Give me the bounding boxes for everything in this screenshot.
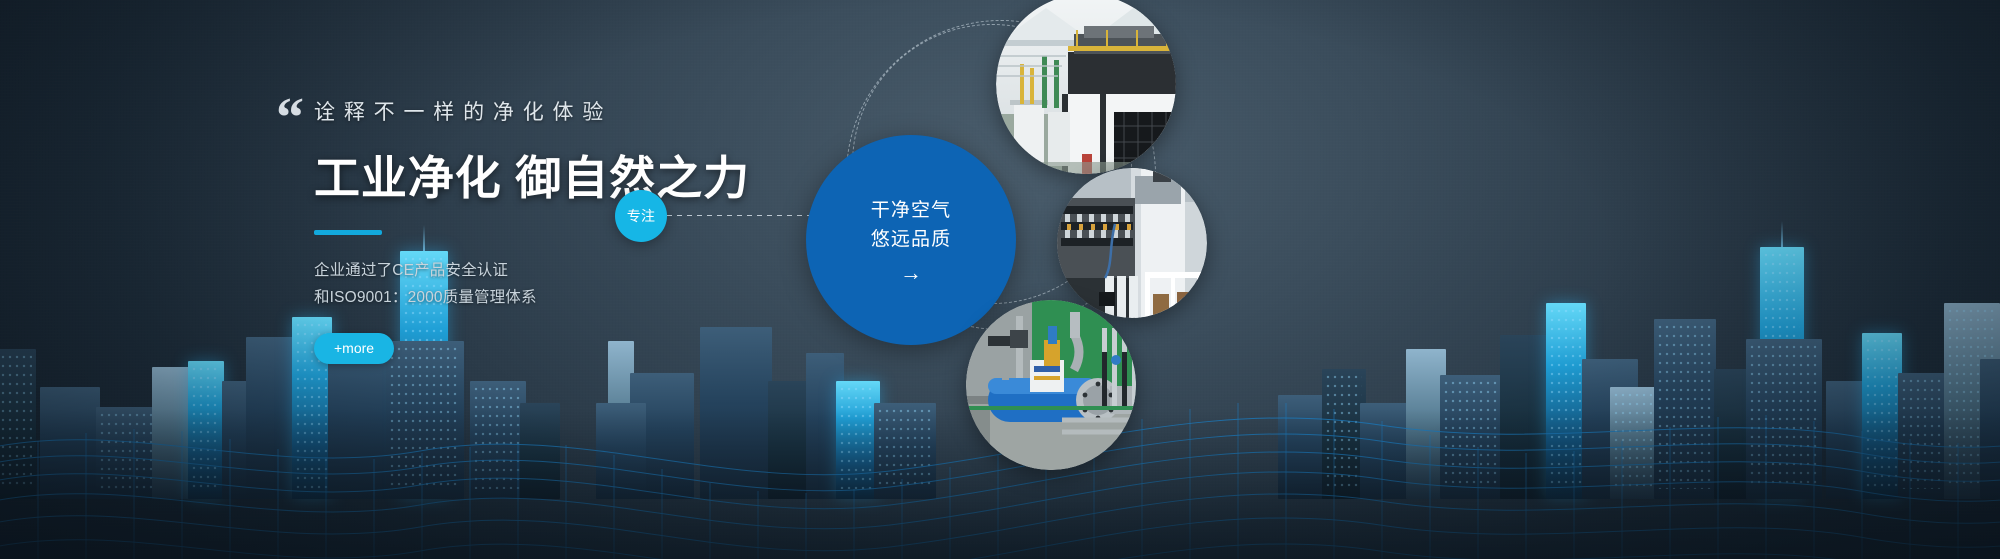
focus-badge-label: 专注 [627, 206, 656, 226]
accent-rule-divider [314, 230, 382, 235]
hero-graphic-cluster: 专注 干净空气 悠远品质 → [780, 0, 2000, 559]
quote-mark-icon: “ [276, 90, 304, 146]
more-button[interactable]: +more [314, 333, 394, 364]
circle-line-2: 悠远品质 [871, 225, 952, 254]
hero-banner: “ 诠释不一样的净化体验 工业净化 御自然之力 企业通过了CE产品安全认证 和I… [0, 0, 2000, 559]
textile-machinery-photo[interactable] [1057, 168, 1207, 318]
main-blue-circle[interactable]: 干净空气 悠远品质 → [806, 135, 1016, 345]
factory-interior-photo[interactable] [996, 0, 1176, 174]
pressure-vessel-photo[interactable] [966, 300, 1136, 470]
circle-line-1: 干净空气 [871, 196, 952, 225]
focus-badge[interactable]: 专注 [615, 190, 667, 242]
arrow-right-icon: → [900, 262, 922, 284]
